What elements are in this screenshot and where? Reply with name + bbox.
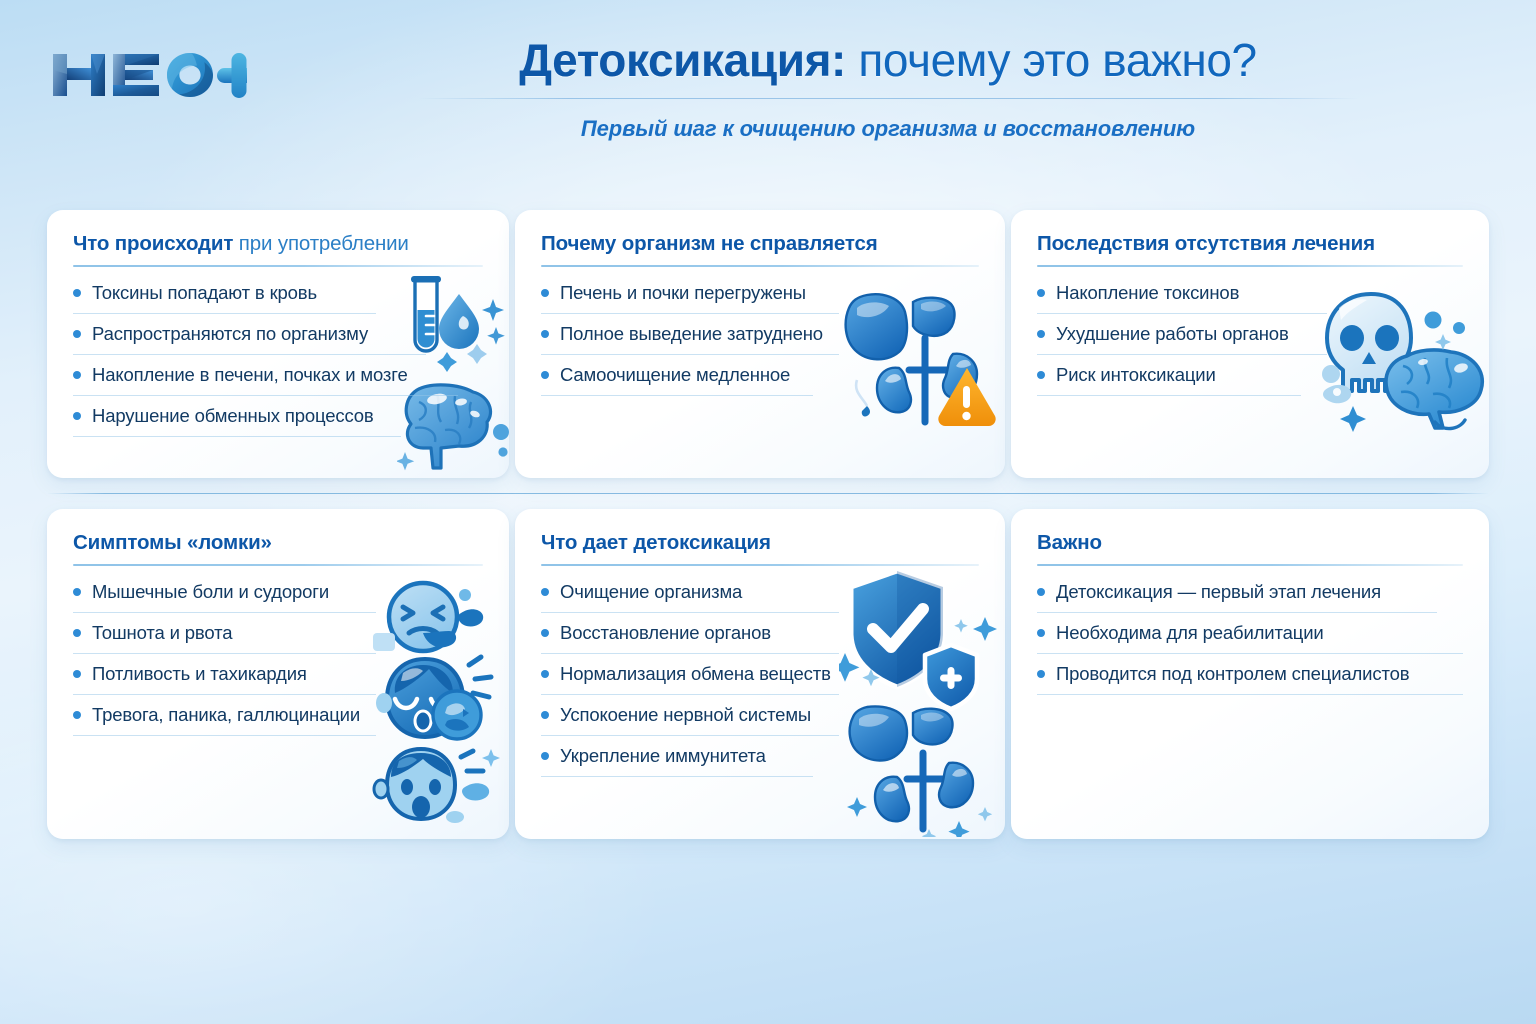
list-item-label: Самоочищение медленное bbox=[560, 364, 790, 386]
card-title: Что происходит при употреблении bbox=[73, 232, 483, 256]
page-title-light: почему это важно? bbox=[846, 34, 1257, 86]
list-item: Накопление токсинов bbox=[1037, 282, 1327, 314]
card-title-bold: Последствия отсутствия лечения bbox=[1037, 232, 1375, 255]
page-title: Детоксикация: почему это важно? bbox=[280, 36, 1496, 85]
card-title: Последствия отсутствия лечения bbox=[1037, 232, 1463, 256]
card-title-bold: Что дает детоксикация bbox=[541, 531, 771, 554]
list-item: Самоочищение медленное bbox=[541, 364, 813, 396]
bullet-dot bbox=[541, 629, 549, 637]
bullet-dot bbox=[73, 711, 81, 719]
list-item-label: Тошнота и рвота bbox=[92, 622, 232, 644]
list-item: Распространяются по организму bbox=[73, 323, 426, 355]
card-title-bold: Симптомы «ломки» bbox=[73, 531, 272, 554]
list-item-label: Токсины попадают в кровь bbox=[92, 282, 317, 304]
list-item: Ухудшение работы органов bbox=[1037, 323, 1327, 355]
card-title-bold: Что происходит bbox=[73, 232, 233, 255]
list-item-label: Полное выведение затруднено bbox=[560, 323, 823, 345]
bullet-dot bbox=[73, 629, 81, 637]
list-item: Проводится под контролем специалистов bbox=[1037, 663, 1463, 695]
card-what-detox-gives: Что дает детоксикация Очищение организма… bbox=[515, 509, 1005, 839]
neo-plus-logo bbox=[47, 44, 247, 106]
card-title: Важно bbox=[1037, 531, 1463, 555]
list-item: Накопление в печени, почках и мозге bbox=[73, 364, 458, 396]
bullet-list: Накопление токсинов Ухудшение работы орг… bbox=[1037, 282, 1463, 396]
row-divider bbox=[47, 493, 1489, 494]
bullet-dot bbox=[73, 588, 81, 596]
page-subtitle: Первый шаг к очищению организма и восста… bbox=[280, 116, 1496, 142]
list-item-label: Потливость и тахикардия bbox=[92, 663, 307, 685]
card-title-bold: Почему организм не справляется bbox=[541, 232, 878, 255]
bullet-list: Детоксикация — первый этап лечения Необх… bbox=[1037, 581, 1463, 695]
list-item-label: Нарушение обменных процессов bbox=[92, 405, 374, 427]
list-item-label: Успокоение нервной системы bbox=[560, 704, 811, 726]
list-item-label: Накопление токсинов bbox=[1056, 282, 1239, 304]
bullet-list: Печень и почки перегружены Полное выведе… bbox=[541, 282, 979, 396]
bullet-dot bbox=[541, 330, 549, 338]
card-title: Что дает детоксикация bbox=[541, 531, 979, 555]
page-title-bold: Детоксикация: bbox=[519, 34, 846, 86]
list-item: Риск интоксикации bbox=[1037, 364, 1301, 396]
list-item-label: Проводится под контролем специалистов bbox=[1056, 663, 1409, 685]
list-item: Мышечные боли и судороги bbox=[73, 581, 376, 613]
bullet-dot bbox=[1037, 330, 1045, 338]
list-item-label: Ухудшение работы органов bbox=[1056, 323, 1289, 345]
list-item-label: Риск интоксикации bbox=[1056, 364, 1216, 386]
list-item: Тошнота и рвота bbox=[73, 622, 376, 654]
card-title-divider bbox=[1037, 265, 1463, 267]
bullet-dot bbox=[73, 670, 81, 678]
list-item: Полное выведение затруднено bbox=[541, 323, 839, 355]
bullet-dot bbox=[1037, 289, 1045, 297]
list-item: Детоксикация — первый этап лечения bbox=[1037, 581, 1437, 613]
bullet-dot bbox=[73, 371, 81, 379]
card-title-divider bbox=[1037, 564, 1463, 566]
cards-grid: Что происходит при употреблении Токсины … bbox=[47, 210, 1489, 839]
bullet-dot bbox=[541, 588, 549, 596]
bullet-dot bbox=[541, 711, 549, 719]
list-item-label: Распространяются по организму bbox=[92, 323, 368, 345]
list-item: Успокоение нервной системы bbox=[541, 704, 839, 736]
title-block: Детоксикация: почему это важно? Первый ш… bbox=[280, 36, 1496, 142]
bullet-list: Мышечные боли и судороги Тошнота и рвота… bbox=[73, 581, 483, 736]
bullet-list: Токсины попадают в кровь Распространяютс… bbox=[73, 282, 483, 437]
bullet-dot bbox=[541, 289, 549, 297]
list-item: Нормализация обмена веществ bbox=[541, 663, 839, 695]
card-title: Почему организм не справляется bbox=[541, 232, 979, 256]
list-item: Нарушение обменных процессов bbox=[73, 405, 401, 437]
list-item: Печень и почки перегружены bbox=[541, 282, 839, 314]
list-item-label: Детоксикация — первый этап лечения bbox=[1056, 581, 1381, 603]
bullet-dot bbox=[1037, 371, 1045, 379]
card-title-divider bbox=[541, 265, 979, 267]
card-title-divider bbox=[73, 265, 483, 267]
card-title: Симптомы «ломки» bbox=[73, 531, 483, 555]
card-title-bold: Важно bbox=[1037, 531, 1102, 554]
list-item-label: Тревога, паника, галлюцинации bbox=[92, 704, 360, 726]
list-item: Очищение организма bbox=[541, 581, 839, 613]
list-item-label: Восстановление органов bbox=[560, 622, 771, 644]
bullet-list: Очищение организма Восстановление органо… bbox=[541, 581, 979, 777]
bullet-dot bbox=[73, 412, 81, 420]
list-item-label: Накопление в печени, почках и мозге bbox=[92, 364, 408, 386]
list-item: Восстановление органов bbox=[541, 622, 839, 654]
card-important: Важно Детоксикация — первый этап лечения… bbox=[1011, 509, 1489, 839]
list-item-label: Очищение организма bbox=[560, 581, 742, 603]
list-item: Необходима для реабилитации bbox=[1037, 622, 1463, 654]
card-title-regular: при употреблении bbox=[233, 232, 408, 255]
bullet-dot bbox=[541, 670, 549, 678]
list-item: Тревога, паника, галлюцинации bbox=[73, 704, 376, 736]
card-consequences: Последствия отсутствия лечения Накоплени… bbox=[1011, 210, 1489, 478]
list-item-label: Печень и почки перегружены bbox=[560, 282, 806, 304]
card-title-divider bbox=[73, 564, 483, 566]
card-why-body-fails: Почему организм не справляется Печень и … bbox=[515, 210, 1005, 478]
list-item: Токсины попадают в кровь bbox=[73, 282, 376, 314]
list-item-label: Нормализация обмена веществ bbox=[560, 663, 831, 685]
list-item-label: Укрепление иммунитета bbox=[560, 745, 766, 767]
list-item-label: Мышечные боли и судороги bbox=[92, 581, 329, 603]
bullet-dot bbox=[541, 371, 549, 379]
card-title-divider bbox=[541, 564, 979, 566]
card-what-happens: Что происходит при употреблении Токсины … bbox=[47, 210, 509, 478]
cards-row-bottom: Симптомы «ломки» Мышечные боли и судорог… bbox=[47, 509, 1489, 839]
list-item: Укрепление иммунитета bbox=[541, 745, 813, 777]
page-header: Детоксикация: почему это важно? Первый ш… bbox=[0, 0, 1536, 186]
bullet-dot bbox=[1037, 629, 1045, 637]
bullet-dot bbox=[541, 752, 549, 760]
title-divider bbox=[418, 98, 1358, 99]
card-withdrawal-symptoms: Симптомы «ломки» Мышечные боли и судорог… bbox=[47, 509, 509, 839]
list-item: Потливость и тахикардия bbox=[73, 663, 376, 695]
bullet-dot bbox=[73, 330, 81, 338]
cards-row-top: Что происходит при употреблении Токсины … bbox=[47, 210, 1489, 478]
bullet-dot bbox=[1037, 670, 1045, 678]
bullet-dot bbox=[1037, 588, 1045, 596]
bullet-dot bbox=[73, 289, 81, 297]
list-item-label: Необходима для реабилитации bbox=[1056, 622, 1324, 644]
